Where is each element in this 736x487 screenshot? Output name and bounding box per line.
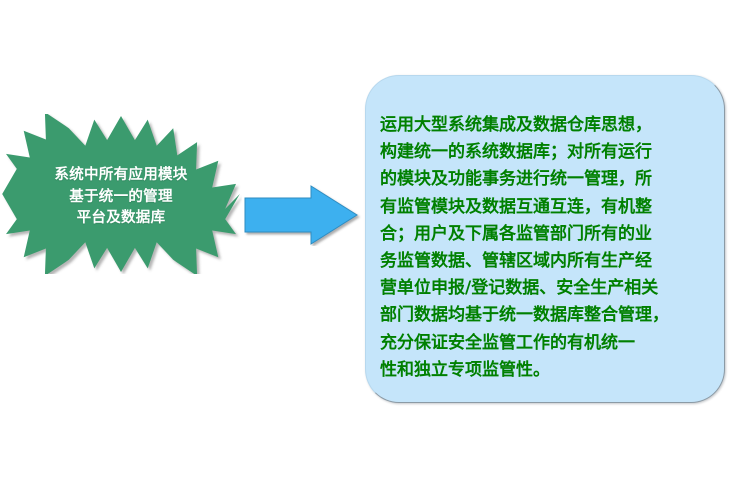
slide-canvas: 系统中所有应用模块 基于统一的管理 平台及数据库 运用大型系统集成及数据仓库思想… bbox=[0, 0, 736, 487]
star-callout[interactable]: 系统中所有应用模块 基于统一的管理 平台及数据库 bbox=[0, 114, 242, 274]
description-panel-text: 运用大型系统集成及数据仓库思想， 构建统一的系统数据库；对所有运行 的模块及功能… bbox=[380, 112, 716, 384]
flow-arrow[interactable] bbox=[243, 184, 363, 246]
description-panel[interactable]: 运用大型系统集成及数据仓库思想， 构建统一的系统数据库；对所有运行 的模块及功能… bbox=[365, 75, 725, 403]
star-callout-text: 系统中所有应用模块 基于统一的管理 平台及数据库 bbox=[0, 165, 242, 230]
right-arrow-icon bbox=[243, 184, 363, 246]
